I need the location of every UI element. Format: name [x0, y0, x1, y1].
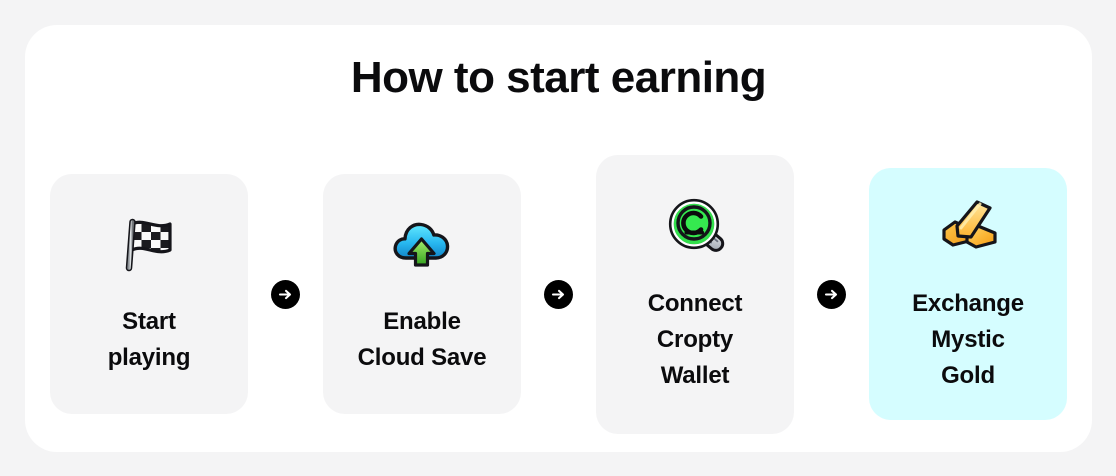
- arrow-right-circle-icon: [544, 280, 573, 309]
- step-label: Connect Cropty Wallet: [648, 286, 743, 394]
- cloud-upload-icon: [385, 208, 459, 282]
- steps-row: Start playing: [50, 149, 1067, 439]
- step-card-enable-cloud-save[interactable]: Enable Cloud Save: [323, 174, 521, 414]
- arrow-right-circle-icon: [271, 280, 300, 309]
- how-to-start-earning-panel: How to start earning: [25, 25, 1092, 452]
- gold-bars-icon: [931, 190, 1005, 264]
- step-label: Start playing: [108, 304, 191, 376]
- step-label: Exchange Mystic Gold: [912, 286, 1024, 394]
- cropty-coin-icon: [658, 190, 732, 264]
- step-label: Enable Cloud Save: [358, 304, 487, 376]
- checkered-flag-icon: [112, 208, 186, 282]
- arrow-right-circle-icon: [817, 280, 846, 309]
- step-card-start-playing[interactable]: Start playing: [50, 174, 248, 414]
- step-card-exchange-mystic-gold[interactable]: Exchange Mystic Gold: [869, 168, 1067, 420]
- step-card-connect-cropty-wallet[interactable]: Connect Cropty Wallet: [596, 155, 794, 434]
- page-title: How to start earning: [25, 53, 1092, 104]
